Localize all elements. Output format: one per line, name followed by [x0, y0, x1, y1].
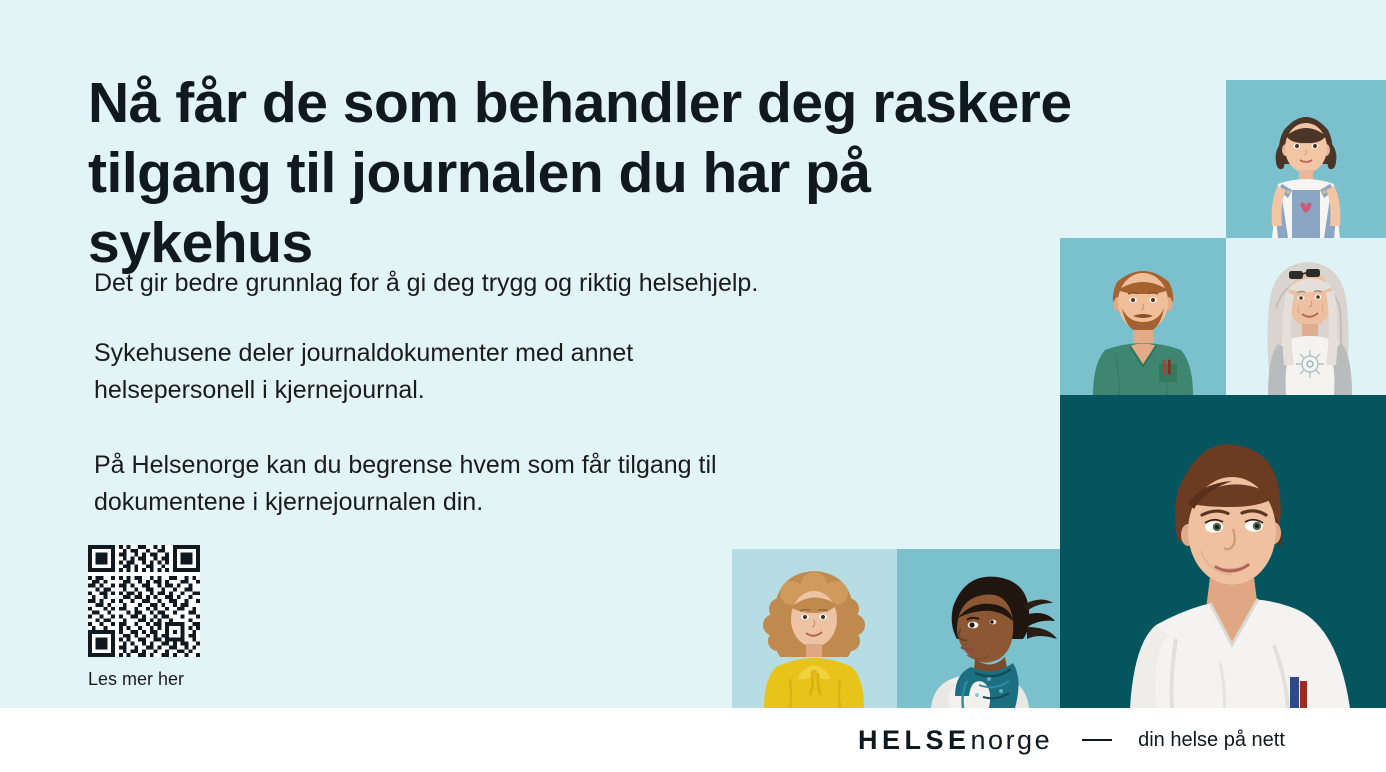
qr-code-icon[interactable]	[88, 545, 200, 657]
logo-divider-dash	[1082, 739, 1112, 741]
photo-senior-woman-grey-hair	[1226, 238, 1386, 395]
helsenorge-logo[interactable]: HELSE norge din helse på nett	[858, 708, 1285, 772]
poster-canvas: Nå får de som behandler deg raskere tilg…	[0, 0, 1386, 708]
qr-block[interactable]: Les mer her	[88, 545, 200, 690]
photo-nurse-white-uniform	[1060, 395, 1386, 708]
girl-portrait-image	[1226, 80, 1386, 238]
photo-girl-in-denim-overalls	[1226, 80, 1386, 238]
body-paragraph-3: På Helsenorge kan du begrense hvem som f…	[94, 447, 934, 521]
photo-woman-yellow-blouse	[732, 549, 897, 708]
page-title: Nå får de som behandler deg raskere tilg…	[88, 68, 1098, 278]
footer-bar: HELSE norge din helse på nett	[0, 708, 1386, 772]
senior-woman-portrait-image	[1226, 238, 1386, 395]
campaign-poster: Nå får de som behandler deg raskere tilg…	[0, 0, 1386, 772]
photo-male-nurse-green-scrubs	[1060, 238, 1226, 395]
logo-helse-text: HELSE	[858, 725, 971, 756]
logo-tagline: din helse på nett	[1138, 729, 1285, 752]
body-paragraph-2: Sykehusene deler journaldokumenter med a…	[94, 335, 934, 409]
photo-woman-teal-scarf	[897, 549, 1060, 708]
body-paragraph-1: Det gir bedre grunnlag for å gi deg tryg…	[94, 265, 934, 302]
woman-yellow-blouse-image	[732, 549, 897, 708]
nurse-portrait-image	[1060, 395, 1386, 708]
male-nurse-portrait-image	[1060, 238, 1226, 395]
qr-caption: Les mer her	[88, 668, 200, 690]
logo-norge-text: norge	[971, 725, 1053, 756]
woman-teal-scarf-image	[897, 549, 1060, 708]
